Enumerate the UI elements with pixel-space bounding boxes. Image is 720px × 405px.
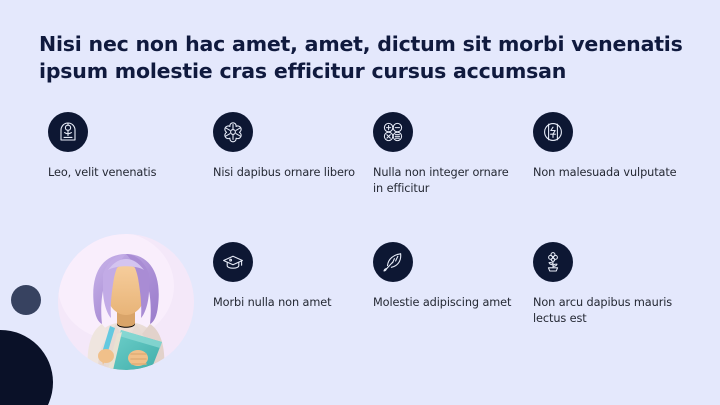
feature-item[interactable]: Molestie adipiscing amet (373, 242, 518, 311)
slide-canvas: Nisi nec non hac amet, amet, dictum sit … (0, 0, 720, 405)
feature-item-label: Nisi dapibus ornare libero (213, 165, 358, 181)
slide-title: Nisi nec non hac amet, amet, dictum sit … (39, 31, 685, 86)
quill-pen-icon (373, 242, 413, 282)
feature-item[interactable]: Morbi nulla non amet (213, 242, 358, 311)
graduation-cap-icon (213, 242, 253, 282)
feature-item-label: Non arcu dapibus mauris lectus est (533, 295, 678, 328)
feature-item-label: Non malesuada vulputate (533, 165, 678, 181)
feature-item[interactable]: Non arcu dapibus mauris lectus est (533, 242, 678, 328)
feature-item-label: Leo, velit venenatis (48, 165, 193, 181)
feature-item-label: Nulla non integer ornare in efficitur (373, 165, 518, 198)
genetics-grid-icon (373, 112, 413, 152)
feature-item[interactable]: Nisi dapibus ornare libero (213, 112, 358, 181)
feature-item[interactable]: Leo, velit venenatis (48, 112, 193, 181)
potted-flower-icon (533, 242, 573, 282)
person-bust-icon (48, 112, 88, 152)
feature-row-1: Leo, velit venenatis Nisi dapibus ornare… (0, 112, 720, 222)
feature-item-label: Morbi nulla non amet (213, 295, 358, 311)
feature-item[interactable]: Non malesuada vulputate (533, 112, 678, 181)
person-with-book-illustration (58, 234, 194, 370)
emblem-circle-icon (533, 112, 573, 152)
feature-item-label: Molestie adipiscing amet (373, 295, 518, 311)
flower-rosette-icon (213, 112, 253, 152)
feature-item[interactable]: Nulla non integer ornare in efficitur (373, 112, 518, 198)
